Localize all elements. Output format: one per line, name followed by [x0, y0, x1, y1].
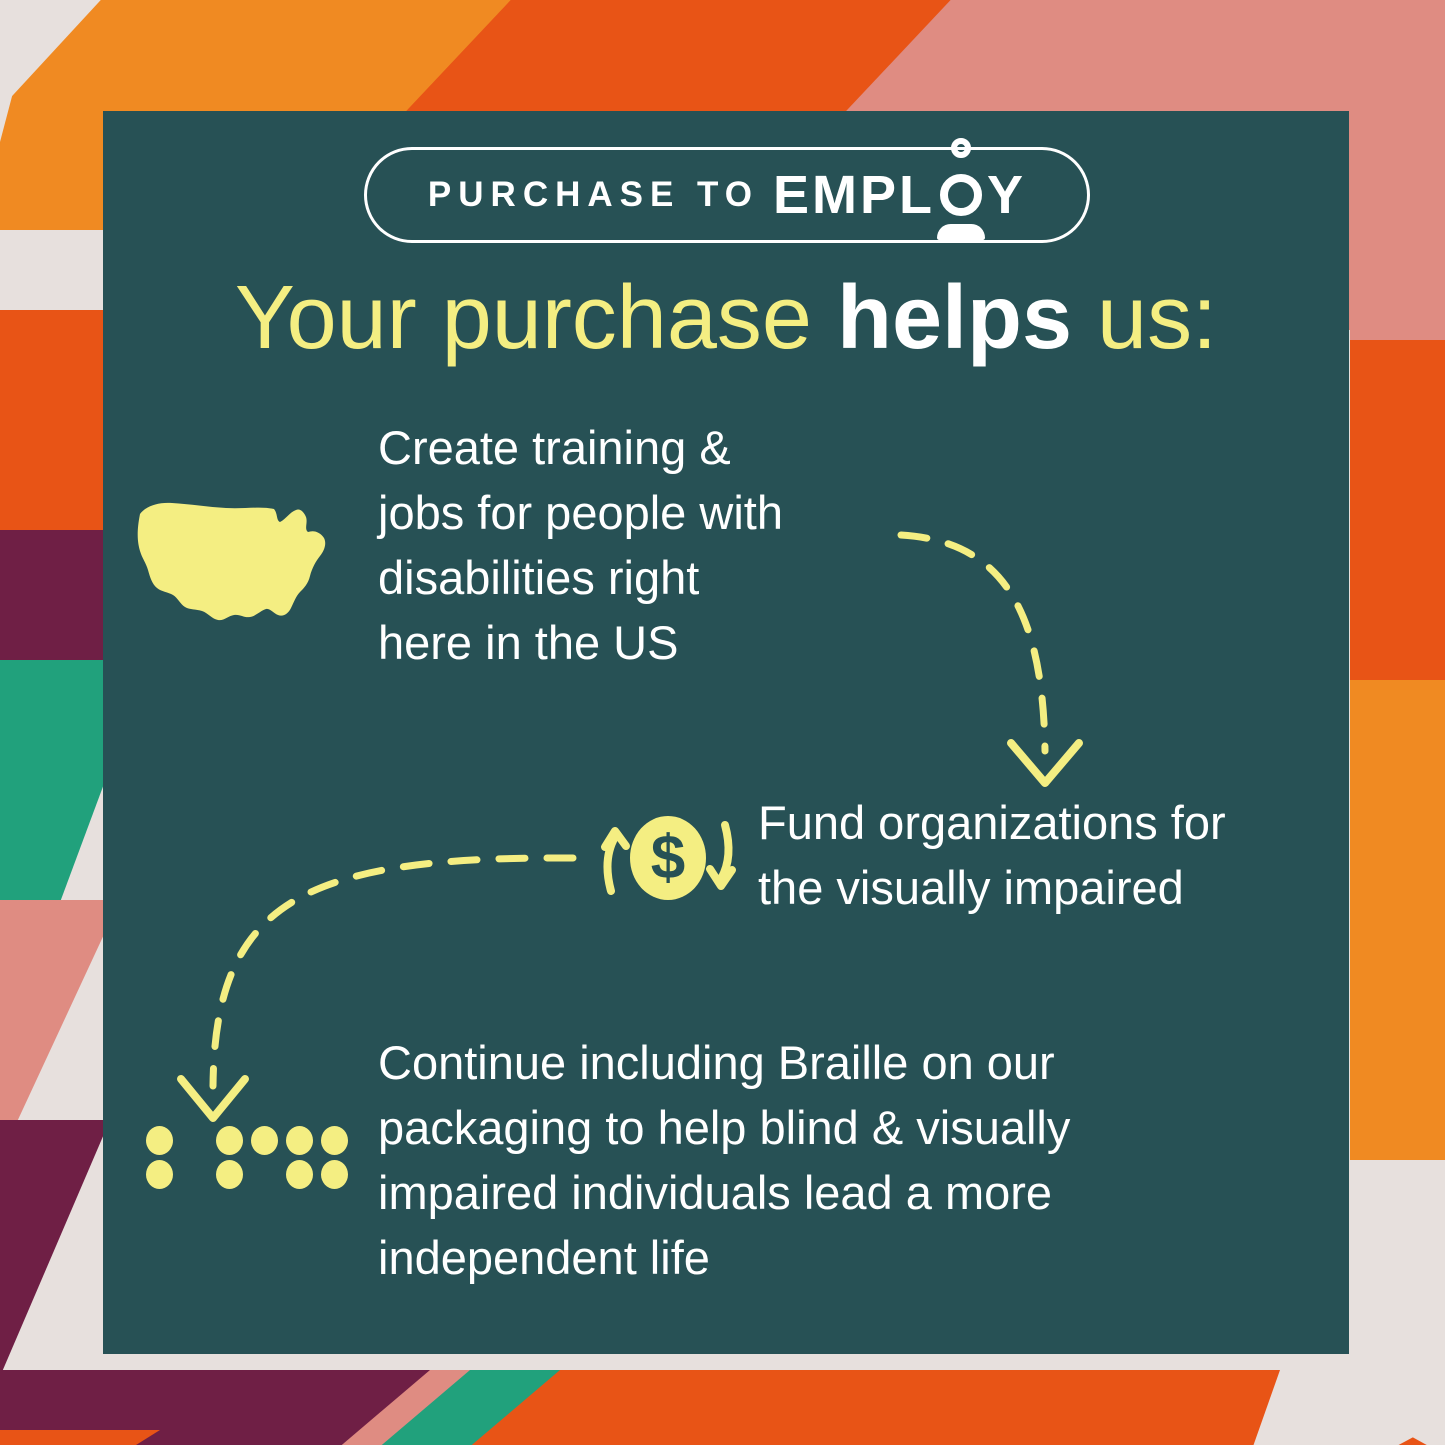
stripe-group-right — [1350, 30, 1445, 1400]
badge-prefix: PURCHASE TO — [428, 175, 759, 215]
benefit-row-braille: Continue including Braille on our packag… — [128, 1031, 1070, 1290]
headline-part-3: us: — [1072, 268, 1217, 368]
braille-dot — [216, 1160, 243, 1189]
content-card: PURCHASE TO EMPL Y Your purchase helps u… — [103, 111, 1349, 1354]
braille-dot — [146, 1126, 173, 1155]
braille-dots-icon-wrap — [128, 1031, 358, 1194]
svg-text:$: $ — [651, 824, 685, 893]
badge-word-b: Y — [987, 164, 1026, 226]
badge-text: PURCHASE TO EMPL Y — [364, 147, 1090, 243]
arrow-map-to-coin-head — [1011, 743, 1079, 783]
arrow-map-to-coin-path — [901, 535, 1045, 751]
braille-dot — [216, 1126, 243, 1155]
infographic-canvas: PURCHASE TO EMPL Y Your purchase helps u… — [0, 0, 1445, 1445]
braille-dot — [181, 1160, 208, 1189]
benefit-row-jobs: Create training & jobs for people with d… — [128, 416, 783, 675]
badge-wordmark: EMPL Y — [773, 164, 1026, 226]
us-map-icon-wrap — [128, 416, 358, 638]
page-title: Your purchase helps us: — [103, 273, 1349, 363]
us-map-icon — [128, 488, 338, 633]
headline-part-2: helps — [837, 268, 1072, 368]
person-o-icon — [935, 168, 987, 222]
brand-badge: PURCHASE TO EMPL Y — [364, 147, 1090, 243]
stripe-group-bottom — [0, 1370, 1445, 1445]
braille-dot — [251, 1160, 278, 1189]
braille-dot — [251, 1126, 278, 1155]
benefit-row-funding: $ Fund organizations for the visually im… — [593, 791, 1226, 921]
benefit-text-braille: Continue including Braille on our packag… — [378, 1031, 1070, 1290]
braille-dot — [286, 1126, 313, 1155]
braille-dots-icon — [146, 1126, 358, 1194]
benefit-text-funding: Fund organizations for the visually impa… — [758, 791, 1226, 921]
headline-part-1: Your purchase — [235, 268, 837, 368]
braille-dot — [286, 1160, 313, 1189]
dollar-coin-icon: $ — [593, 803, 743, 913]
dollar-coin-icon-wrap: $ — [593, 791, 748, 918]
braille-dot — [321, 1126, 348, 1155]
benefit-text-jobs: Create training & jobs for people with d… — [378, 416, 783, 675]
braille-dot — [321, 1160, 348, 1189]
badge-word-a: EMPL — [773, 164, 935, 226]
braille-dot — [181, 1126, 208, 1155]
braille-dot — [146, 1160, 173, 1189]
